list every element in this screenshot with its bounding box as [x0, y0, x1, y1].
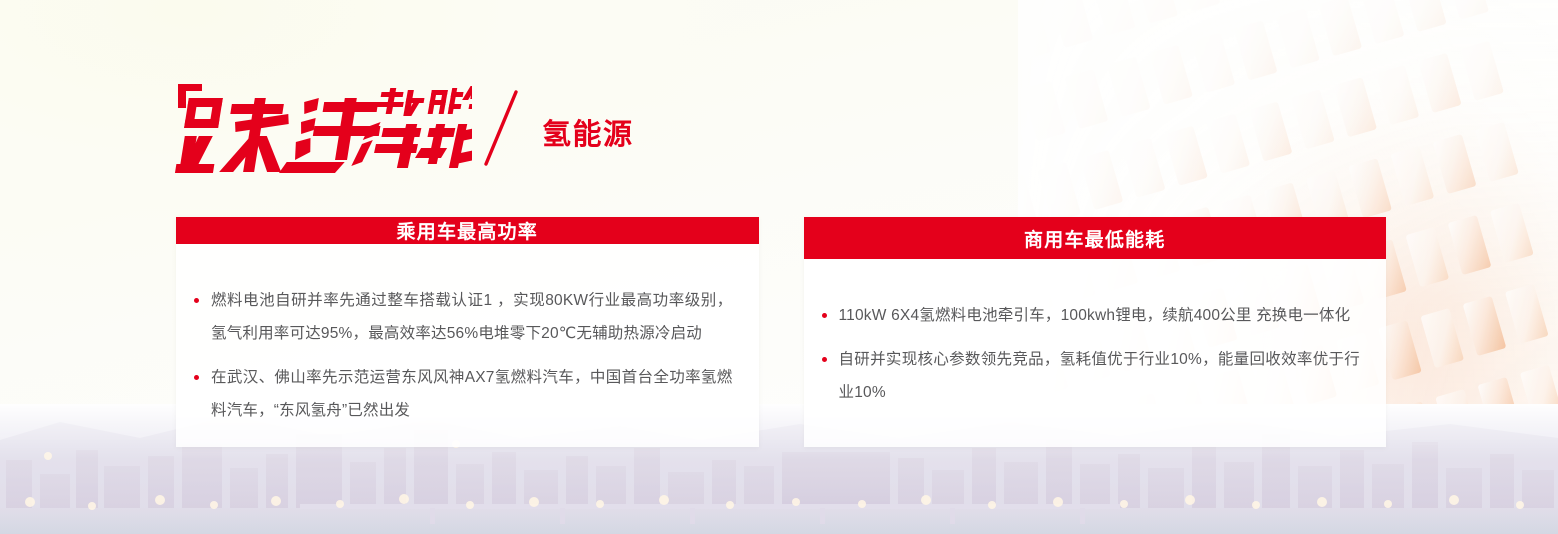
list-item: 自研并实现核心参数领先竞品，氢耗值优于行业10%，能量回收效率优于行业10%: [822, 343, 1361, 409]
logo-separator-slash: [472, 86, 536, 170]
logo-yueqian-mark: [172, 78, 472, 178]
bullet-dot-icon: [194, 298, 199, 303]
card-passenger-vehicle: 乘用车最高功率 燃料电池自研并率先通过整车搭载认证1 ，实现80KW行业最高功率…: [176, 217, 759, 447]
bullet-list: 燃料电池自研并率先通过整车搭载认证1 ，实现80KW行业最高功率级别，氢气利用率…: [194, 284, 733, 427]
bullet-dot-icon: [822, 313, 827, 318]
card-body: 110kW 6X4氢燃料电池牵引车，100kwh锂电，续航400公里 充换电一体…: [804, 259, 1387, 447]
list-item-text: 自研并实现核心参数领先竞品，氢耗值优于行业10%，能量回收效率优于行业10%: [839, 351, 1361, 401]
brand-logo-lockup: 氢能源: [172, 78, 634, 178]
logo-subtitle: 氢能源: [542, 121, 634, 150]
card-commercial-vehicle: 商用车最低能耗 110kW 6X4氢燃料电池牵引车，100kwh锂电，续航400…: [804, 217, 1387, 447]
card-header-title: 乘用车最高功率: [176, 217, 759, 244]
bullet-list: 110kW 6X4氢燃料电池牵引车，100kwh锂电，续航400公里 充换电一体…: [822, 299, 1361, 409]
list-item-text: 燃料电池自研并率先通过整车搭载认证1 ，实现80KW行业最高功率级别，氢气利用率…: [211, 292, 733, 342]
list-item: 燃料电池自研并率先通过整车搭载认证1 ，实现80KW行业最高功率级别，氢气利用率…: [194, 284, 733, 350]
card-header-title: 商用车最低能耗: [804, 217, 1387, 259]
feature-cards-row: 乘用车最高功率 燃料电池自研并率先通过整车搭载认证1 ，实现80KW行业最高功率…: [176, 217, 1386, 447]
list-item: 110kW 6X4氢燃料电池牵引车，100kwh锂电，续航400公里 充换电一体…: [822, 299, 1361, 332]
list-item: 在武汉、佛山率先示范运营东风风神AX7氢燃料汽车，中国首台全功率氢燃料汽车，“东…: [194, 361, 733, 427]
bullet-dot-icon: [822, 357, 827, 362]
list-item-text: 在武汉、佛山率先示范运营东风风神AX7氢燃料汽车，中国首台全功率氢燃料汽车，“东…: [211, 369, 733, 419]
list-item-text: 110kW 6X4氢燃料电池牵引车，100kwh锂电，续航400公里 充换电一体…: [839, 307, 1351, 324]
card-body: 燃料电池自研并率先通过整车搭载认证1 ，实现80KW行业最高功率级别，氢气利用率…: [176, 244, 759, 447]
bullet-dot-icon: [194, 375, 199, 380]
poster-stage: 氢能源 乘用车最高功率 燃料电池自研并率先通过整车搭载认证1 ，实现80KW行业…: [0, 0, 1558, 534]
